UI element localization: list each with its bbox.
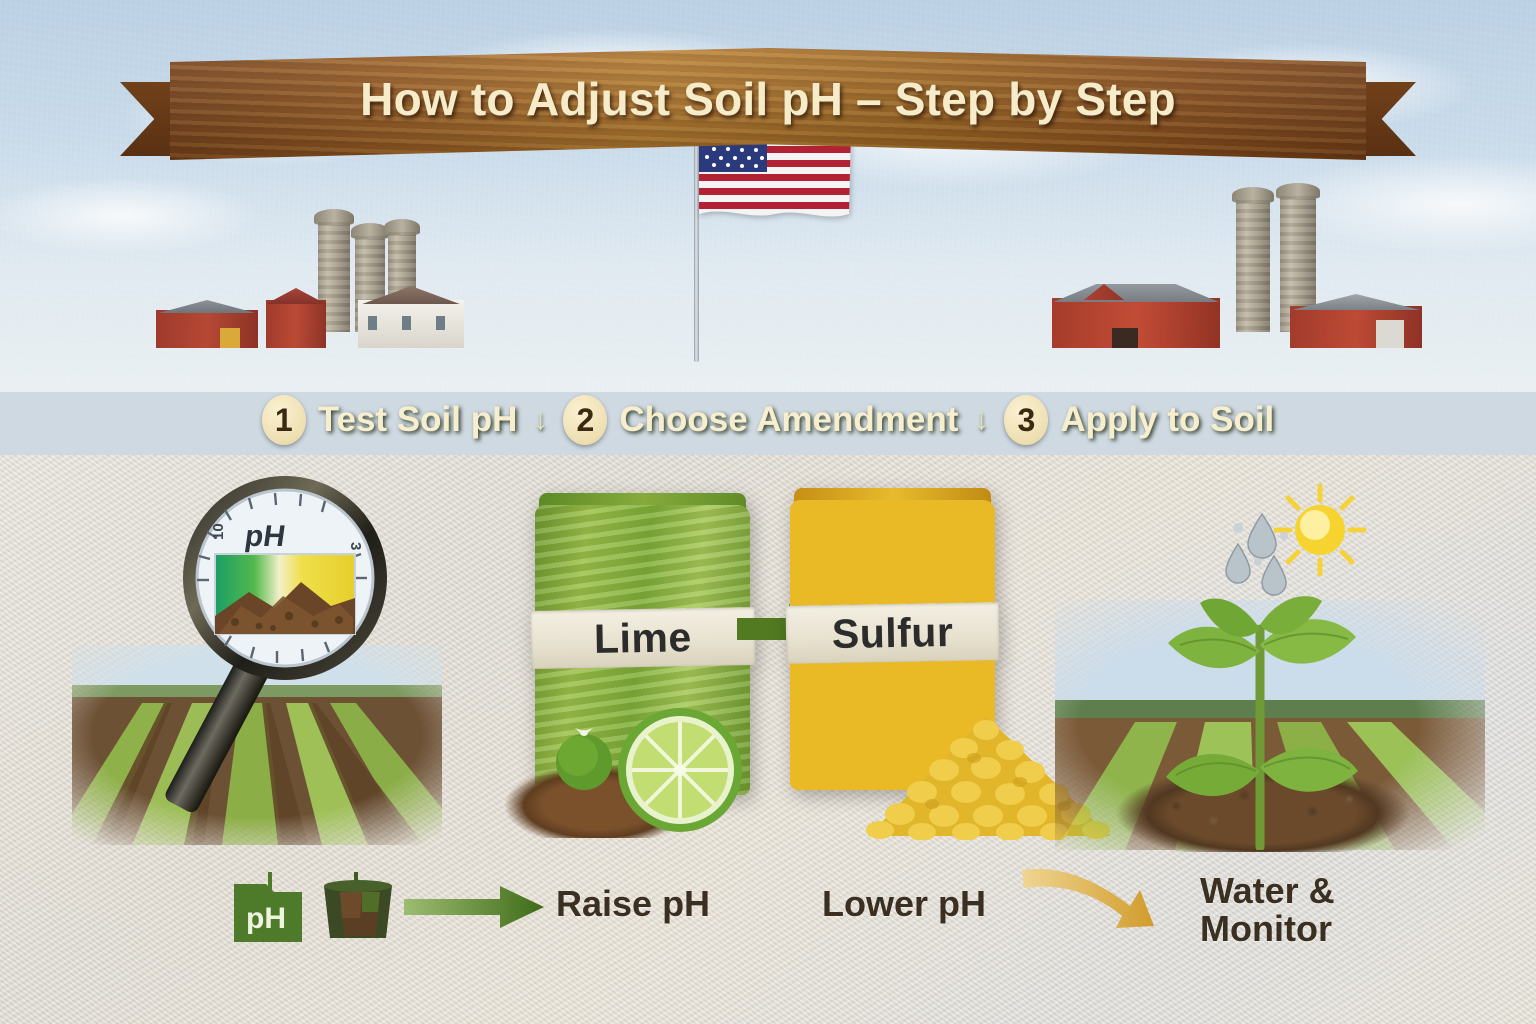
- shed-door: [1376, 320, 1404, 348]
- step-label-2: Choose Amendment: [619, 400, 958, 440]
- lime-bag-label-band: Lime: [530, 607, 755, 669]
- farmhouse-window: [436, 316, 445, 330]
- steps-bar: 1 Test Soil pH ↓ 2 Choose Amendment ↓ 3 …: [0, 385, 1536, 455]
- water-monitor-caption-line1: Water &: [1200, 872, 1335, 910]
- step-number-badge-1: 1: [262, 395, 306, 445]
- lower-ph-caption: Lower pH: [822, 883, 986, 925]
- page-title: How to Adjust Soil pH – Step by Step: [0, 72, 1536, 126]
- meter-scale-right-label: 3: [347, 542, 364, 550]
- barn-door: [220, 328, 240, 348]
- seedling-plant-icon: [1152, 575, 1372, 850]
- meter-scale-left-label: 10: [210, 523, 227, 540]
- step-separator-arrow-1: ↓: [517, 403, 563, 437]
- sulfur-bag-label-band: Sulfur: [785, 603, 999, 665]
- ph-tag-icon[interactable]: pH: [232, 870, 304, 944]
- step-number-badge-2: 2: [563, 395, 607, 445]
- barn-roof: [262, 288, 330, 304]
- step-label-1: Test Soil pH: [318, 400, 518, 440]
- raise-ph-arrow-icon: [404, 884, 544, 930]
- barn-wall: [156, 310, 258, 348]
- barn-door: [1112, 328, 1138, 348]
- silo-body: [1236, 200, 1270, 332]
- step-number-badge-3: 3: [1004, 395, 1048, 445]
- sulfur-bag-label: Sulfur: [831, 609, 953, 658]
- right-red-shed: [1290, 294, 1422, 348]
- soil-core-sample-icon: [318, 872, 398, 944]
- barn-roof: [152, 300, 262, 313]
- ph-tag-label: pH: [246, 902, 286, 935]
- barn-roof: [1046, 280, 1226, 302]
- step-item-3[interactable]: 3 Apply to Soil: [1004, 395, 1274, 445]
- infographic-canvas: How to Adjust Soil pH – Step by Step 1 T…: [0, 0, 1536, 1024]
- callout-row: pH Raise pH Lower pH: [0, 860, 1536, 1000]
- step-label-3: Apply to Soil: [1060, 400, 1274, 440]
- farmhouse-window: [368, 316, 377, 330]
- raise-ph-caption: Raise pH: [556, 883, 710, 925]
- farmhouse-window: [402, 316, 411, 330]
- meter-sample-window: [215, 554, 355, 634]
- title-banner: How to Adjust Soil pH – Step by Step: [0, 26, 1536, 176]
- barn-wall: [266, 300, 326, 348]
- whole-lime-icon: [548, 720, 620, 792]
- step-separator-arrow-2: ↓: [958, 403, 1004, 437]
- step-item-2[interactable]: 2 Choose Amendment: [563, 395, 958, 445]
- step-item-1[interactable]: 1 Test Soil pH: [262, 395, 518, 445]
- left-red-barn-2: [266, 288, 326, 348]
- meter-ph-label: pH: [243, 520, 288, 553]
- farmhouse-roof: [353, 286, 469, 304]
- farmhouse: [358, 286, 464, 348]
- left-red-barn-1: [156, 300, 258, 348]
- magnifying-glass-ph-meter[interactable]: 10 3 pH: [163, 466, 433, 856]
- lime-slice-icon: [614, 705, 746, 835]
- shed-roof: [1285, 294, 1427, 310]
- water-monitor-arrow-icon: [1018, 860, 1178, 938]
- water-monitor-caption-line2: Monitor: [1200, 910, 1335, 948]
- right-main-barn: [1052, 272, 1220, 348]
- water-monitor-caption: Water & Monitor: [1200, 872, 1335, 948]
- right-silo-1: [1236, 200, 1270, 332]
- lime-bag-label: Lime: [593, 614, 692, 663]
